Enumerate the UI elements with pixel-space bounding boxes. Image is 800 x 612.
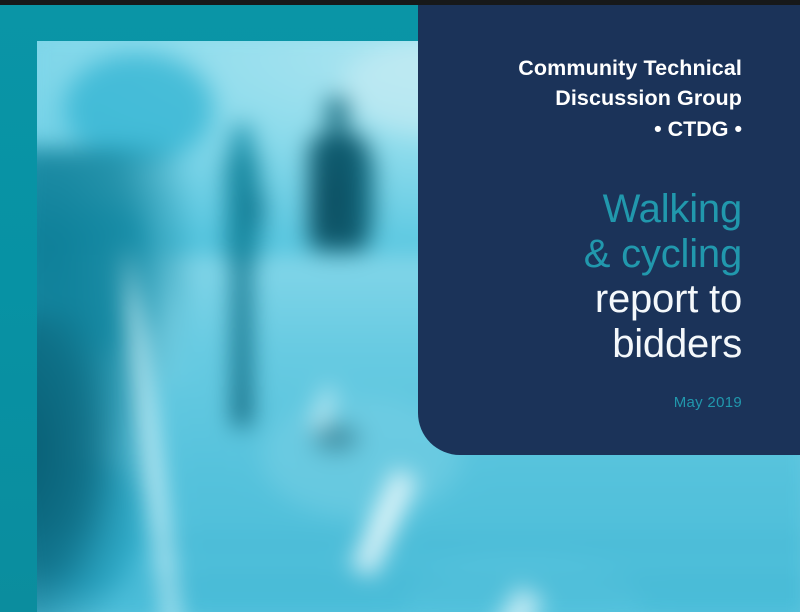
- document-title-line4: bidders: [456, 322, 742, 367]
- pedestrian-legs: [233, 256, 251, 426]
- document-date: May 2019: [456, 394, 742, 411]
- title-panel: Community Technical Discussion Group • C…: [418, 5, 800, 455]
- photo-bokeh-blob: [64, 53, 214, 163]
- photo-pavement-seam: [37, 541, 800, 544]
- title-panel-content: Community Technical Discussion Group • C…: [456, 53, 742, 411]
- organisation-name: Community Technical Discussion Group • C…: [456, 53, 742, 144]
- document-title-line3: report to: [456, 277, 742, 322]
- pedestrian-bag: [246, 188, 264, 230]
- organisation-name-line2: Discussion Group: [456, 83, 742, 113]
- pedestrian-legs: [323, 245, 347, 443]
- photo-pedestrian-right: [304, 97, 374, 447]
- photo-pavement-seam: [37, 582, 800, 585]
- pedestrian-head: [232, 124, 252, 150]
- organisation-name-line1: Community Technical: [456, 53, 742, 83]
- document-title: Walking & cycling report to bidders: [456, 187, 742, 367]
- document-title-line2: & cycling: [456, 232, 742, 277]
- photo-pedestrian-left: [220, 124, 266, 434]
- report-cover: Community Technical Discussion Group • C…: [0, 0, 800, 612]
- pedestrian-shadow: [314, 427, 358, 449]
- organisation-abbreviation: • CTDG •: [456, 114, 742, 144]
- document-title-line1: Walking: [456, 187, 742, 232]
- pedestrian-arm: [354, 153, 374, 231]
